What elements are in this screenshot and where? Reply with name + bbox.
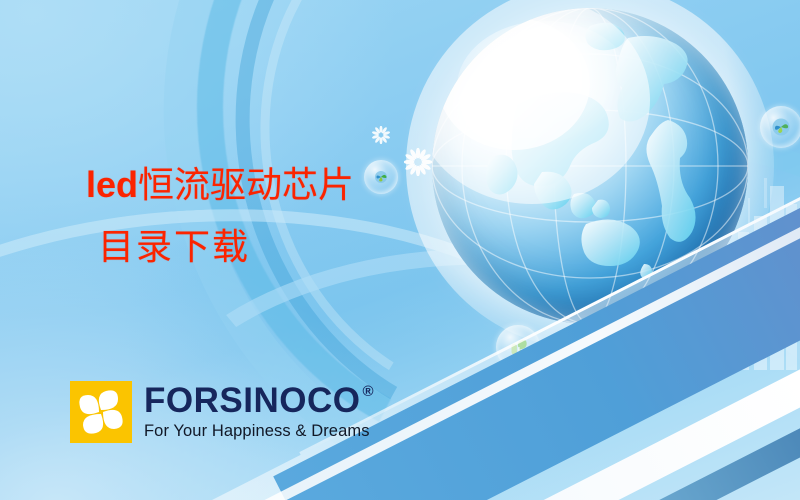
bubble-globe-icon-right [760, 106, 800, 148]
headline-line-2: 目录下载 [86, 225, 506, 271]
daisy-starburst-icon-small [372, 126, 390, 144]
headline-line-1: led恒流驱动芯片 [86, 162, 506, 209]
logo-tagline: For Your Happiness & Dreams [144, 422, 374, 441]
four-petal-pinwheel-icon [70, 381, 132, 443]
bubble-leaf-icon [496, 325, 540, 369]
ribbon-blue-dark [464, 282, 800, 500]
globe-pinwheel-emblem-right [769, 115, 793, 139]
background-wash-top-left [0, 0, 400, 320]
headline-text: led恒流驱动芯片 目录下载 [86, 162, 506, 271]
pinwheel-petals [70, 381, 132, 443]
ribbon-white-wide [422, 244, 800, 500]
background-wash-bottom-left [0, 240, 420, 500]
globe-highlight [457, 21, 634, 154]
headline-latin: led [86, 164, 138, 205]
logo-text-block: FORSINOCO ® For Your Happiness & Dreams [144, 381, 374, 441]
logo-wordmark-row: FORSINOCO ® [144, 383, 374, 418]
green-sprout-emblem [505, 334, 531, 360]
brand-logo: FORSINOCO ® For Your Happiness & Dreams [70, 381, 374, 443]
promo-banner: led恒流驱动芯片 目录下载 FORSINOCO ® For Your Happ… [0, 0, 800, 500]
logo-wordmark: FORSINOCO [144, 383, 360, 418]
headline-chinese: 恒流驱动芯片 [138, 165, 354, 206]
registered-trademark-icon: ® [362, 384, 374, 399]
city-skyline-silhouette [620, 170, 800, 370]
